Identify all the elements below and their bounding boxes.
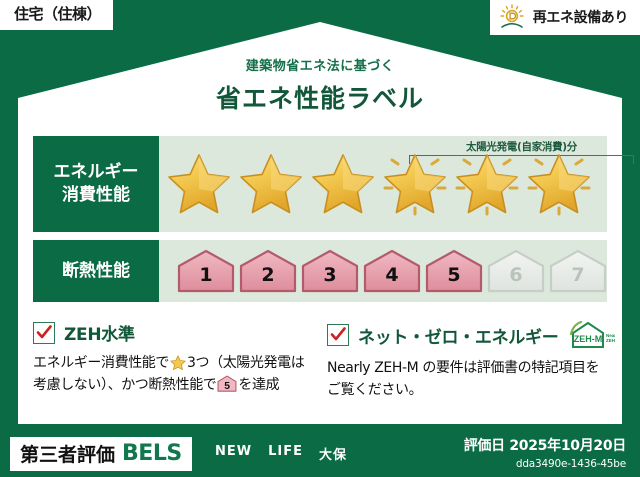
label-footer: 第三者評価 BELS NEW LIFE 大保 評価日 2025年10月20日 d… — [0, 429, 640, 477]
energy-performance-row: エネルギー 消費性能 太陽光発電(自家消費)分 — [33, 136, 607, 232]
zeh-criteria-title: ZEH水準 — [64, 320, 135, 345]
zeh-body-part1: エネルギー消費性能で — [33, 355, 169, 371]
zeh-criteria-header: ZEH水準 — [33, 320, 315, 345]
insulation-row-label: 断熱性能 — [33, 240, 159, 302]
evaluation-date: 評価日 2025年10月20日 — [464, 435, 626, 455]
insulation-level-badge: 1 — [177, 249, 235, 293]
netzero-criteria-title: ネット・ゼロ・エネルギー — [358, 323, 558, 348]
zeh-criteria-block: ZEH水準 エネルギー消費性能で3つ（太陽光発電は考慮しない）、かつ断熱性能で5… — [33, 320, 315, 396]
insulation-level-badge: 6 — [487, 249, 545, 293]
svg-text:ZEH-M: ZEH-M — [574, 334, 603, 344]
svg-text:5: 5 — [225, 381, 231, 392]
energy-star — [235, 148, 307, 220]
bels-logo-text: BELS — [122, 441, 182, 466]
energy-star — [163, 148, 235, 220]
insulation-level-number: 6 — [509, 266, 522, 293]
insulation-level-number: 1 — [199, 266, 212, 293]
zeh-body-part3: を達成 — [238, 377, 279, 393]
energy-star-rating — [159, 136, 607, 232]
energy-star-solar — [451, 148, 523, 220]
evaluation-info: 評価日 2025年10月20日 dda3490e-1436-45be — [464, 435, 626, 470]
zeh-criteria-body: エネルギー消費性能で3つ（太陽光発電は考慮しない）、かつ断熱性能で5を達成 — [33, 353, 315, 396]
bels-japanese-text: 第三者評価 — [20, 440, 115, 467]
energy-star-solar — [379, 148, 451, 220]
renewable-energy-text: 再エネ設備あり — [533, 7, 628, 27]
insulation-performance-row: 断熱性能 1 2 3 — [33, 240, 607, 302]
insulation-level-scale: 1 2 3 4 5 — [159, 240, 607, 302]
insulation-level-number: 2 — [261, 266, 274, 293]
company-word-2: LIFE — [268, 444, 303, 463]
insulation-level-badge: 3 — [301, 249, 359, 293]
energy-performance-label: 住宅（住棟） 再エネ設備あり 建築物省エネ法に基づく — [0, 0, 640, 477]
label-title-block: 建築物省エネ法に基づく 省エネ性能ラベル — [0, 55, 640, 115]
company-name: NEW LIFE 大保 — [215, 444, 347, 463]
energy-star-solar — [523, 148, 595, 220]
title-subtitle: 建築物省エネ法に基づく — [0, 55, 640, 74]
svg-text:ZEH-M: ZEH-M — [606, 338, 615, 343]
check-icon — [33, 322, 55, 344]
company-word-3: 大保 — [319, 444, 347, 463]
insulation-level-number: 5 — [447, 266, 460, 293]
insulation-level-badge: 5 — [425, 249, 483, 293]
check-icon — [327, 324, 349, 346]
energy-row-label-line2: 消費性能 — [62, 184, 130, 207]
company-word-1: NEW — [215, 444, 252, 463]
energy-row-body: 太陽光発電(自家消費)分 — [159, 136, 607, 232]
energy-star — [307, 148, 379, 220]
energy-row-label-line1: エネルギー — [54, 161, 139, 184]
inline-star-icon — [170, 355, 186, 371]
zeh-m-logo-icon: ZEH-M Nearly ZEH-M — [569, 320, 615, 350]
building-type-tag: 住宅（住棟） — [0, 0, 113, 30]
bels-badge: 第三者評価 BELS — [10, 437, 192, 471]
energy-row-label: エネルギー 消費性能 — [33, 136, 159, 232]
sun-solar-icon — [498, 4, 528, 30]
building-type-text: 住宅（住棟） — [14, 5, 101, 23]
insulation-level-number: 3 — [323, 266, 336, 293]
insulation-level-number: 4 — [385, 266, 398, 293]
title-main: 省エネ性能ラベル — [0, 79, 640, 115]
renewable-energy-tag: 再エネ設備あり — [490, 0, 640, 35]
insulation-level-badge: 4 — [363, 249, 421, 293]
netzero-criteria-block: ネット・ゼロ・エネルギー ZEH-M Nearly ZEH-M Nearly Z… — [327, 320, 609, 401]
evaluation-id: dda3490e-1436-45be — [464, 458, 626, 470]
insulation-level-number: 7 — [571, 266, 584, 293]
netzero-criteria-header: ネット・ゼロ・エネルギー ZEH-M Nearly ZEH-M — [327, 320, 609, 350]
insulation-level-badge: 2 — [239, 249, 297, 293]
netzero-criteria-body: Nearly ZEH-M の要件は評価書の特記項目をご覧ください。 — [327, 358, 609, 401]
insulation-level-badge: 7 — [549, 249, 607, 293]
insulation-row-label-text: 断熱性能 — [62, 260, 130, 283]
inline-house-icon: 5 — [217, 375, 237, 392]
insulation-row-body: 1 2 3 4 5 — [159, 240, 607, 302]
